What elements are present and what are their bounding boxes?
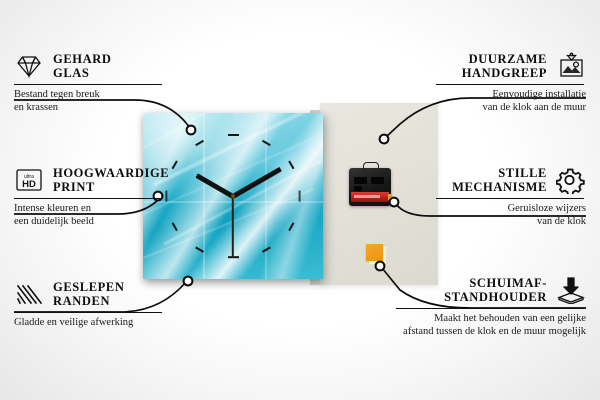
feature-divider [14,312,162,313]
svg-text:HD: HD [22,179,36,190]
connector-dot-duurzame-handgreep [380,135,389,144]
press-down-icon [556,276,586,304]
gear-icon [556,166,586,194]
feature-divider [14,84,162,85]
infographic-canvas: GEHARD GLAS Bestand tegen breuk en krass… [0,0,600,400]
feature-heading: GEHARD GLAS [14,52,164,80]
feature-title: STILLE MECHANISME [436,166,547,194]
feature-title: SCHUIMAF- STANDHOUDER [396,276,547,304]
feature-divider [436,198,584,199]
feature-heading: DUURZAME HANDGREEP [436,52,586,80]
connector-dot-gehard-glas [187,126,196,135]
feature-schuimafstandhouder: SCHUIMAF- STANDHOUDER Maakt het behouden… [396,276,586,338]
feature-heading: STILLE MECHANISME [436,166,586,194]
feature-divider [14,198,162,199]
feature-description: Maakt het behouden van een gelijke afsta… [396,313,586,338]
feature-heading: GESLEPEN RANDEN [14,280,164,308]
feature-description: Gladde en veilige afwerking [14,317,164,330]
feature-heading: ultra HD HOOGWAARDIGE PRINT [14,166,164,194]
feature-heading: SCHUIMAF- STANDHOUDER [396,276,586,304]
feature-description: Geruisloze wijzers van de klok [436,203,586,228]
feature-description: Bestand tegen breuk en krassen [14,89,164,114]
feature-title: GESLEPEN RANDEN [53,280,125,308]
connector-dot-schuimafstandhouder [376,262,385,271]
connector-dot-geslepen-randen [184,277,193,286]
diamond-icon [14,52,44,80]
feature-divider [436,84,584,85]
connector-dot-stille-mechanisme [390,198,399,207]
beveled-edges-icon [14,280,44,308]
framed-picture-icon [556,52,586,80]
feature-description: Eenvoudige installatie van de klok aan d… [436,89,586,114]
feature-divider [396,308,584,309]
feature-geslepen-randen: GESLEPEN RANDEN Gladde en veilige afwerk… [14,280,164,330]
feature-title: HOOGWAARDIGE PRINT [53,166,169,194]
feature-stille-mechanisme: STILLE MECHANISME Geruisloze wijzers van… [436,166,586,228]
feature-gehard-glas: GEHARD GLAS Bestand tegen breuk en krass… [14,52,164,114]
feature-title: DUURZAME HANDGREEP [436,52,547,80]
feature-title: GEHARD GLAS [53,52,111,80]
ultra-hd-icon: ultra HD [14,166,44,194]
feature-description: Intense kleuren en een duidelijk beeld [14,203,164,228]
feature-hoogwaardige-print: ultra HD HOOGWAARDIGE PRINT Intense kleu… [14,166,164,228]
feature-duurzame-handgreep: DUURZAME HANDGREEP Eenvoudige installati… [436,52,586,114]
